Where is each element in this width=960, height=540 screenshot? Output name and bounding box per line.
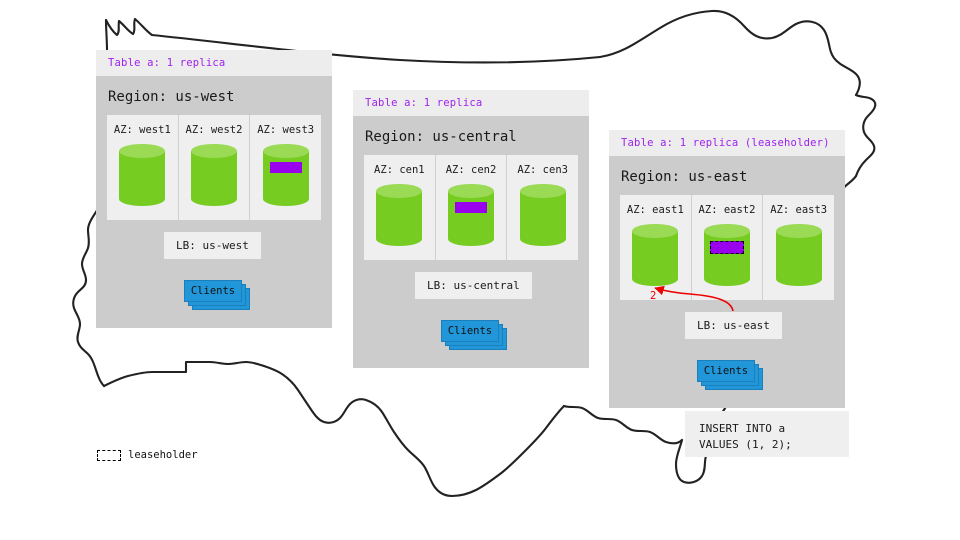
diagram-stage: Table a: 1 replica Region: us-west AZ: w…: [0, 0, 960, 540]
node-cylinder-west2[interactable]: [191, 144, 237, 206]
region-panel-us-west: Table a: 1 replica Region: us-west AZ: w…: [96, 50, 332, 328]
region-title-us-east: Region: us-east: [609, 156, 845, 195]
cylinder-body: [776, 231, 822, 279]
load-balancer-us-central[interactable]: LB: us-central: [415, 272, 532, 299]
cylinder-body: [520, 191, 566, 239]
az-cell-west1[interactable]: AZ: west1: [107, 115, 178, 220]
cylinder-body: [704, 231, 750, 279]
arrow-step-label-2: 2: [650, 290, 656, 302]
cylinder-body: [119, 151, 165, 199]
region-title-us-central: Region: us-central: [353, 116, 589, 155]
replica-block-cen2: [455, 202, 487, 213]
replica-block-west3: [270, 162, 302, 173]
cylinder-top: [704, 224, 750, 238]
cylinder-top: [520, 184, 566, 198]
load-balancer-us-west[interactable]: LB: us-west: [164, 232, 261, 259]
region-panel-us-east: Table a: 1 replica (leaseholder) Region:…: [609, 130, 845, 408]
dashed-rect-icon: [97, 450, 121, 461]
cylinder-top: [191, 144, 237, 158]
az-strip-us-east: AZ: east1 AZ: east2 AZ: east3: [620, 195, 834, 300]
clients-stack-us-central[interactable]: Clients: [441, 320, 503, 344]
az-cell-east3[interactable]: AZ: east3: [762, 195, 834, 300]
clients-stack-us-west[interactable]: Clients: [184, 280, 246, 304]
region-title-us-west: Region: us-west: [96, 76, 332, 115]
region-header-us-west: Table a: 1 replica: [96, 50, 332, 76]
node-cylinder-east1[interactable]: [632, 224, 678, 286]
cylinder-top: [119, 144, 165, 158]
clients-button-us-east[interactable]: Clients: [697, 360, 755, 382]
cylinder-top: [448, 184, 494, 198]
node-cylinder-west3[interactable]: [263, 144, 309, 206]
cylinder-body: [448, 191, 494, 239]
az-cell-east1[interactable]: AZ: east1: [620, 195, 691, 300]
az-strip-us-west: AZ: west1 AZ: west2 AZ: west3: [107, 115, 321, 220]
az-label-west1: AZ: west1: [107, 124, 178, 136]
clients-stack-us-east[interactable]: Clients: [697, 360, 759, 384]
node-cylinder-west1[interactable]: [119, 144, 165, 206]
az-label-cen2: AZ: cen2: [436, 164, 507, 176]
cylinder-top: [376, 184, 422, 198]
legend-label: leaseholder: [128, 449, 198, 461]
az-label-east3: AZ: east3: [763, 204, 834, 216]
az-label-east1: AZ: east1: [620, 204, 691, 216]
node-cylinder-east2[interactable]: [704, 224, 750, 286]
az-label-cen1: AZ: cen1: [364, 164, 435, 176]
region-header-us-east: Table a: 1 replica (leaseholder): [609, 130, 845, 156]
node-cylinder-cen2[interactable]: [448, 184, 494, 246]
cylinder-body: [632, 231, 678, 279]
cylinder-body: [263, 151, 309, 199]
az-label-west2: AZ: west2: [179, 124, 250, 136]
node-cylinder-cen1[interactable]: [376, 184, 422, 246]
az-label-cen3: AZ: cen3: [507, 164, 578, 176]
replica-block-east2-leaseholder: [710, 241, 744, 254]
cylinder-top: [263, 144, 309, 158]
region-panel-us-central: Table a: 1 replica Region: us-central AZ…: [353, 90, 589, 368]
az-cell-west2[interactable]: AZ: west2: [178, 115, 250, 220]
cylinder-top: [632, 224, 678, 238]
az-cell-west3[interactable]: AZ: west3: [249, 115, 321, 220]
legend-leaseholder: leaseholder: [97, 449, 198, 461]
clients-button-us-central[interactable]: Clients: [441, 320, 499, 342]
az-strip-us-central: AZ: cen1 AZ: cen2 AZ: cen3: [364, 155, 578, 260]
clients-button-us-west[interactable]: Clients: [184, 280, 242, 302]
sql-statement-box: INSERT INTO a VALUES (1, 2);: [685, 411, 849, 457]
az-cell-cen1[interactable]: AZ: cen1: [364, 155, 435, 260]
az-cell-cen2[interactable]: AZ: cen2: [435, 155, 507, 260]
load-balancer-us-east[interactable]: LB: us-east: [685, 312, 782, 339]
node-cylinder-east3[interactable]: [776, 224, 822, 286]
az-cell-cen3[interactable]: AZ: cen3: [506, 155, 578, 260]
region-header-us-central: Table a: 1 replica: [353, 90, 589, 116]
cylinder-body: [191, 151, 237, 199]
node-cylinder-cen3[interactable]: [520, 184, 566, 246]
cylinder-top: [776, 224, 822, 238]
az-label-west3: AZ: west3: [250, 124, 321, 136]
cylinder-body: [376, 191, 422, 239]
az-label-east2: AZ: east2: [692, 204, 763, 216]
az-cell-east2[interactable]: AZ: east2: [691, 195, 763, 300]
